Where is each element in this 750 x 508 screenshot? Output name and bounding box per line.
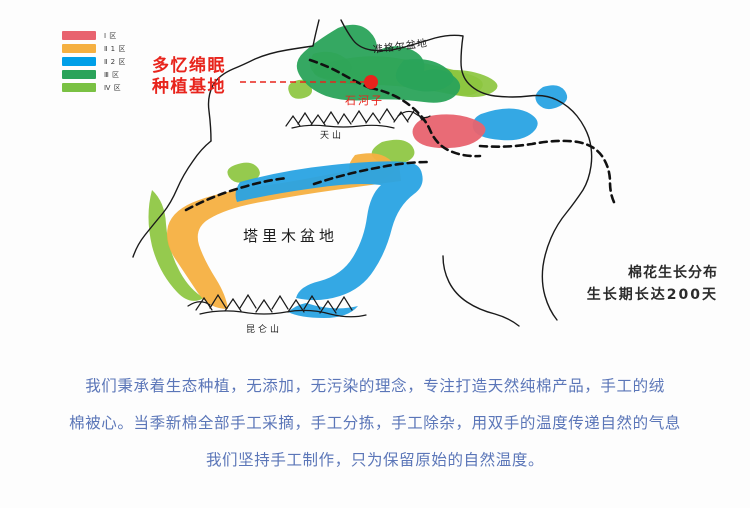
- caption-line1: 棉花生长分布: [587, 262, 718, 284]
- label-tianshan: 天山: [320, 128, 344, 141]
- legend-label-zone-3: Ⅲ 区: [104, 70, 120, 80]
- legend-label-zone-2-1: Ⅱ 1 区: [104, 44, 126, 54]
- legend-label-zone-2-2: Ⅱ 2 区: [104, 57, 126, 67]
- tianshan-range-symbol: [286, 109, 430, 128]
- legend-item-zone-4: Ⅳ 区: [62, 82, 142, 93]
- label-kunlun: 昆仑山: [246, 322, 282, 335]
- label-tarim-basin: 塔里木盆地: [243, 225, 338, 246]
- legend-item-zone-2-1: Ⅱ 1 区: [62, 43, 142, 54]
- legend-swatch-zone-4: [62, 83, 96, 92]
- blurb-line2: 棉被心。当季新棉全部手工采摘，手工分拣，手工除杂，用双手的温度传递自然的气息: [0, 405, 750, 442]
- legend-swatch-zone-2-1: [62, 44, 96, 53]
- blurb-line1: 我们秉承着生态种植，无添加，无污染的理念，专注打造天然纯棉产品，手工的绒: [0, 368, 750, 405]
- map-caption: 棉花生长分布 生长期长达200天: [587, 262, 718, 306]
- map-legend: Ⅰ 区 Ⅱ 1 区 Ⅱ 2 区 Ⅲ 区 Ⅳ 区: [62, 30, 142, 95]
- cotton-distribution-map: Ⅰ 区 Ⅱ 1 区 Ⅱ 2 区 Ⅲ 区 Ⅳ 区 多忆绵眠 种植基地: [0, 0, 750, 352]
- brand-blurb: 我们秉承着生态种植，无添加，无污染的理念，专注打造天然纯棉产品，手工的绒 棉被心…: [0, 368, 750, 479]
- brand-callout-line2: 种植基地: [152, 77, 226, 98]
- caption-line2: 生长期长达200天: [587, 284, 718, 306]
- legend-swatch-zone-1: [62, 31, 96, 40]
- legend-item-zone-3: Ⅲ 区: [62, 69, 142, 80]
- shihezi-marker[interactable]: [364, 75, 378, 89]
- label-shihezi: 石河子: [345, 92, 384, 108]
- legend-item-zone-2-2: Ⅱ 2 区: [62, 56, 142, 67]
- brand-callout: 多忆绵眠 种植基地: [152, 56, 226, 98]
- legend-label-zone-4: Ⅳ 区: [104, 83, 121, 93]
- brand-callout-line1: 多忆绵眠: [152, 56, 226, 76]
- page-root: Ⅰ 区 Ⅱ 1 区 Ⅱ 2 区 Ⅲ 区 Ⅳ 区 多忆绵眠 种植基地: [0, 0, 750, 508]
- legend-swatch-zone-2-2: [62, 57, 96, 66]
- legend-label-zone-1: Ⅰ 区: [104, 31, 117, 41]
- legend-item-zone-1: Ⅰ 区: [62, 30, 142, 41]
- blurb-line3: 我们坚持手工制作，只为保留原始的自然温度。: [0, 442, 750, 479]
- legend-swatch-zone-3: [62, 70, 96, 79]
